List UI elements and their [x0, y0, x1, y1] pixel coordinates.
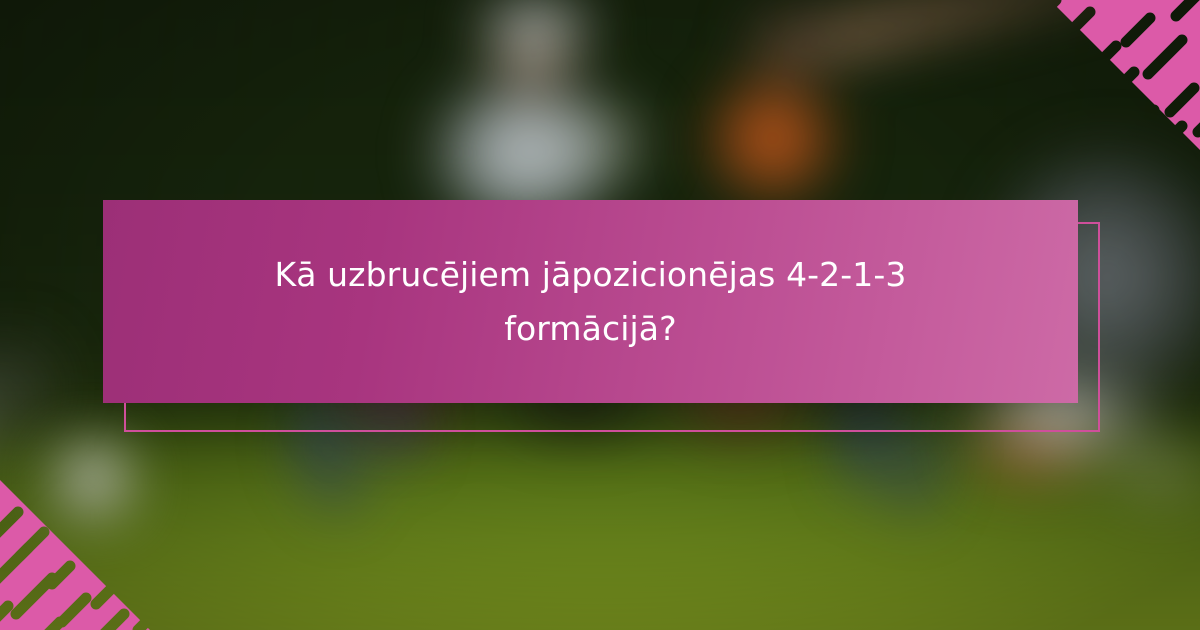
- headline-card: Kā uzbrucējiem jāpozicionējas 4-2-1-3 fo…: [103, 200, 1078, 403]
- share-card: Kā uzbrucējiem jāpozicionējas 4-2-1-3 fo…: [0, 0, 1200, 630]
- page-title: Kā uzbrucējiem jāpozicionējas 4-2-1-3 fo…: [241, 248, 941, 355]
